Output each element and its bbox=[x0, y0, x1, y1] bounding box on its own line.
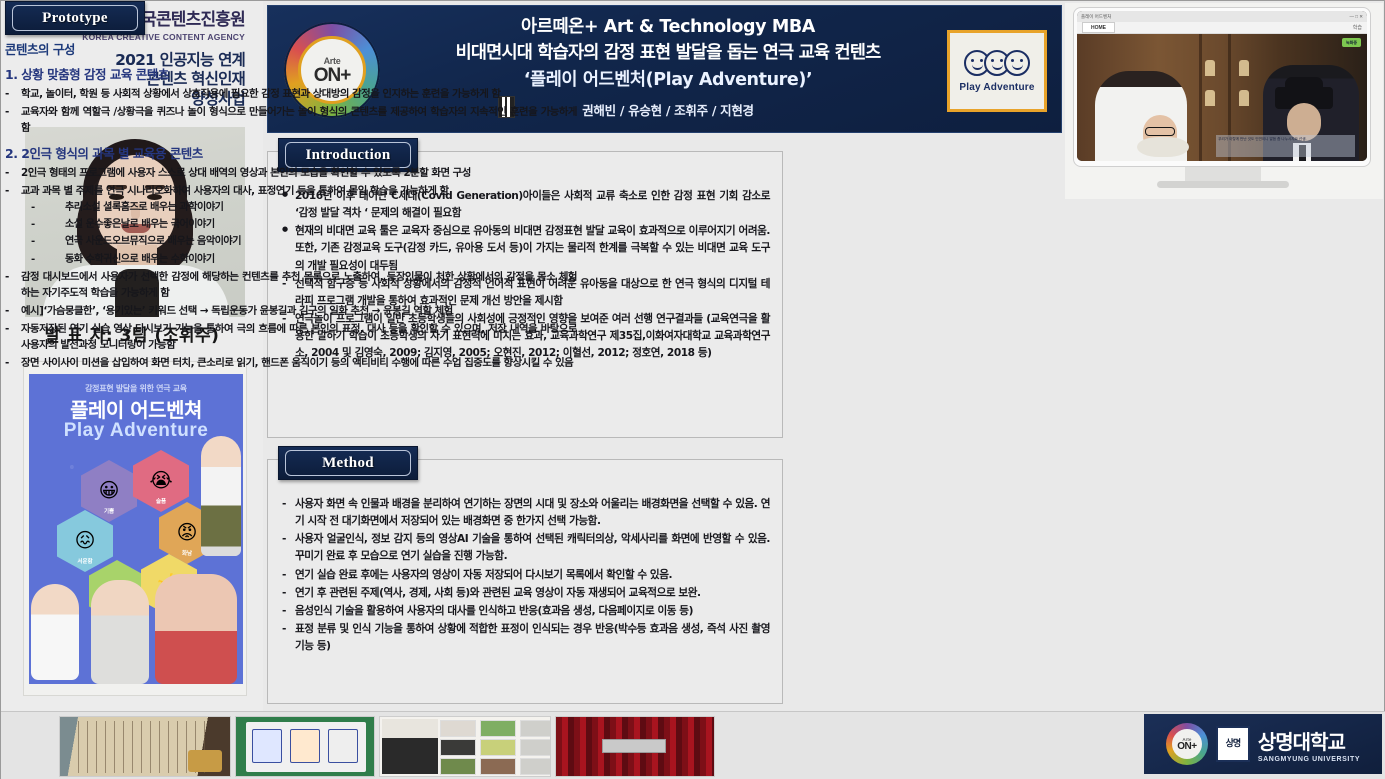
list-item-text: 연기 후 관련된 주제(역사, 경제, 사회 등)와 관련된 교육 영상이 자동… bbox=[295, 585, 770, 602]
list-item-text: 동화 수학귀신으로 배우는 수학이야기 bbox=[65, 252, 577, 268]
method-panel: Method - 사용자 화면 속 인물과 배경을 분리하여 연기하는 장면의 … bbox=[267, 459, 783, 704]
promo-child-1 bbox=[201, 436, 241, 556]
list-item-text: 추리소설 셜록홈즈로 배우는 과학이야기 bbox=[65, 200, 577, 216]
promo-subtitle: 감정표현 발달을 위한 연극 교육 bbox=[29, 383, 243, 394]
list-item: - 음성인식 기술을 활용하여 사용자의 대사를 인식하고 반응(효과음 생성,… bbox=[282, 603, 770, 620]
emotion-icon-upset: 😖 bbox=[75, 531, 96, 551]
emotion-label-sad: 슬픔 bbox=[133, 497, 189, 505]
method-list: - 사용자 화면 속 인물과 배경을 분리하여 연기하는 장면의 시대 및 장소… bbox=[282, 496, 770, 656]
bullet-icon: - bbox=[31, 200, 65, 216]
bullet-icon: - bbox=[5, 355, 21, 372]
list-item-text: 표정 분류 및 인식 기능을 통하여 상황에 적합한 표정이 인식되는 경우 반… bbox=[295, 621, 770, 655]
tab-home[interactable]: HOME bbox=[1082, 22, 1115, 33]
actor1-hat bbox=[1137, 137, 1189, 157]
glasses-icon bbox=[1145, 127, 1175, 136]
bullet-icon: - bbox=[5, 86, 21, 103]
emotion-icon-sad: 😭 bbox=[149, 471, 172, 491]
sangmyung-emblem-icon: 상명 bbox=[1216, 726, 1250, 762]
bullet-icon: - bbox=[5, 321, 21, 354]
arte-on-footer-icon: Arte ON+ bbox=[1166, 723, 1208, 765]
university-name-kr: 상명대학교 bbox=[1258, 726, 1360, 755]
play-adventure-faces-icon bbox=[967, 50, 1027, 76]
list-item: - 감정 대시보드에서 사용자가 선택한 감정에 해당하는 컨텐츠를 추천 목록… bbox=[5, 269, 577, 302]
emotion-icon-joy: 😀 bbox=[99, 481, 120, 501]
emotion-icon-angry: 😡 bbox=[177, 523, 198, 543]
sangmyung-names: 상명대학교 SANGMYUNG UNIVERSITY bbox=[1258, 726, 1360, 763]
list-item-text: 학교, 놀이터, 학원 등 사회적 상황에서 상호작용에 필요한 감정 표현과 … bbox=[21, 86, 577, 103]
list-item: - 소설 운수좋은날로 배우는 국어이야기 bbox=[5, 217, 577, 233]
window-controls-icon[interactable]: — □ ✕ bbox=[1350, 14, 1364, 20]
bullet-icon: - bbox=[282, 585, 295, 602]
prototype-monitor-mockup: 플레이 어드벤처 — □ ✕ HOME 학습 bbox=[1065, 3, 1383, 199]
list-item: - 연기 후 관련된 주제(역사, 경제, 사회 등)와 관련된 교육 영상이 … bbox=[282, 585, 770, 602]
list-item-text: 2인극 형태의 프로그램에 사용자 스스로 상대 배역의 영상과 본인의 모습을… bbox=[21, 165, 577, 182]
list-item-text: 연극 사운드오브뮤직으로 배우는 음악이야기 bbox=[65, 234, 577, 250]
list-item-text: 교육자와 함께 역할극 /상황극을 퀴즈나 놀이 형식으로 만들어가는 놀이 형… bbox=[21, 104, 577, 137]
promo-child-2 bbox=[31, 584, 79, 680]
emotion-label-upset: 서운함 bbox=[57, 557, 113, 565]
arte-on-footer-inner: Arte ON+ bbox=[1172, 729, 1202, 759]
promo-poster-art: 감정표현 발달을 위한 연극 교육 플레이 어드벤쳐 Play Adventur… bbox=[29, 374, 243, 684]
section-tag-method-label: Method bbox=[285, 450, 411, 476]
emotion-hex-sad: 😭 슬픔 bbox=[133, 450, 189, 512]
thumbnail-content-grid[interactable] bbox=[379, 716, 551, 777]
prototype-section-number: 2. 2인극 형식의 과목 별 교육용 콘텐츠 bbox=[5, 143, 577, 162]
browser-titlebar: 플레이 어드벤처 — □ ✕ bbox=[1077, 11, 1367, 22]
bullet-icon: - bbox=[31, 217, 65, 233]
list-item-text: 사용자 얼굴인식, 정보 감지 등의 영상AI 기술을 통하여 선택된 캐릭터의… bbox=[295, 531, 770, 565]
tab-learning-label[interactable]: 학습 bbox=[1353, 24, 1362, 31]
video-actor-hanbok bbox=[1095, 71, 1187, 161]
university-name-en: SANGMYUNG UNIVERSITY bbox=[1258, 756, 1360, 763]
list-item: - 사용자 얼굴인식, 정보 감지 등의 영상AI 기술을 통하여 선택된 캐릭… bbox=[282, 531, 770, 565]
list-item-text: 장면 사이사이 미션을 삽입하여 화면 터치, 큰소리로 읽기, 핸드폰 움직이… bbox=[21, 355, 577, 372]
promo-child-4 bbox=[155, 574, 237, 684]
recording-badge: 녹화중 bbox=[1342, 38, 1361, 47]
prototype-content: 콘텐츠의 구성 1. 상황 맞춤형 감정 교육 콘텐츠 - 학교, 놀이터, 학… bbox=[5, 37, 577, 373]
bullet-icon: - bbox=[5, 269, 21, 302]
bullet-icon: - bbox=[282, 567, 295, 584]
list-item-text: 교과 과목 별 주제를 연극 시나리오화하여 사용자의 대사, 표정연기 등을 … bbox=[21, 183, 577, 200]
smiley-face-icon-3 bbox=[1004, 50, 1030, 76]
bottom-thumbnail-strip: Arte ON+ 상명 상명대학교 SANGMYUNG UNIVERSITY bbox=[1, 711, 1385, 779]
bullet-icon: - bbox=[31, 252, 65, 268]
list-item-text: 음성인식 기술을 활용하여 사용자의 대사를 인식하고 반응(효과음 생성, 다… bbox=[295, 603, 770, 620]
list-item: - 교과 과목 별 주제를 연극 시나리오화하여 사용자의 대사, 표정연기 등… bbox=[5, 183, 577, 200]
list-item-text: 연기 실습 완료 후에는 사용자의 영상이 자동 저장되어 다시보기 목록에서 … bbox=[295, 567, 770, 584]
list-item: - 연극 사운드오브뮤직으로 배우는 음악이야기 bbox=[5, 234, 577, 250]
list-item: - 2인극 형태의 프로그램에 사용자 스스로 상대 배역의 영상과 본인의 모… bbox=[5, 165, 577, 182]
thumbnail-stage-curtain[interactable] bbox=[555, 716, 715, 777]
list-item: - 연기 실습 완료 후에는 사용자의 영상이 자동 저장되어 다시보기 목록에… bbox=[282, 567, 770, 584]
list-item-text: 예시]‘가슴뭉클한’, ‘용기있는’ 키워드 선택 → 독립운동가 윤봉길과 김… bbox=[21, 303, 577, 320]
thumbnail-scroll-scene[interactable] bbox=[59, 716, 231, 777]
bullet-icon: - bbox=[31, 234, 65, 250]
prototype-heading: 콘텐츠의 구성 bbox=[5, 39, 577, 58]
bullet-icon: - bbox=[282, 621, 295, 655]
list-item-text: 자동저장된 연기 실습 영상 다시보기 기능을 통하여 극의 흐름에 따른 본인… bbox=[21, 321, 577, 354]
bullet-icon: - bbox=[5, 165, 21, 182]
promo-child-3 bbox=[91, 580, 149, 684]
bullet-icon: - bbox=[282, 531, 295, 565]
bullet-icon: - bbox=[282, 603, 295, 620]
list-item: - 동화 수학귀신으로 배우는 수학이야기 bbox=[5, 252, 577, 268]
sangmyung-university-logo: Arte ON+ 상명 상명대학교 SANGMYUNG UNIVERSITY bbox=[1144, 714, 1382, 774]
list-item-text: 사용자 화면 속 인물과 배경을 분리하여 연기하는 장면의 시대 및 장소와 … bbox=[295, 496, 770, 530]
section-tag-method: Method bbox=[278, 446, 418, 480]
section-tag-prototype-label: Prototype bbox=[12, 5, 138, 31]
prototype-section-number: 1. 상황 맞춤형 감정 교육 콘텐츠 bbox=[5, 64, 577, 83]
play-adventure-label: Play Adventure bbox=[959, 82, 1034, 93]
thumbnail-character-select[interactable] bbox=[235, 716, 375, 777]
list-item: - 학교, 놀이터, 학원 등 사회적 상황에서 상호작용에 필요한 감정 표현… bbox=[5, 86, 577, 103]
arte-footer-bottom-text: ON+ bbox=[1177, 742, 1196, 752]
promo-poster-image: 감정표현 발달을 위한 연극 교육 플레이 어드벤쳐 Play Adventur… bbox=[23, 361, 247, 696]
list-item: - 교육자와 함께 역할극 /상황극을 퀴즈나 놀이 형식으로 만들어가는 놀이… bbox=[5, 104, 577, 137]
list-item-text: 소설 운수좋은날로 배우는 국어이야기 bbox=[65, 217, 577, 233]
play-adventure-logo: Play Adventure bbox=[947, 30, 1047, 112]
list-item-text: 감정 대시보드에서 사용자가 선택한 감정에 해당하는 컨텐츠를 추천 목록으로… bbox=[21, 269, 577, 302]
bullet-icon: - bbox=[5, 303, 21, 320]
list-item: - 장면 사이사이 미션을 삽입하여 화면 터치, 큰소리로 읽기, 핸드폰 움… bbox=[5, 355, 577, 372]
list-item: - 표정 분류 및 인식 기능을 통하여 상황에 적합한 표정이 인식되는 경우… bbox=[282, 621, 770, 655]
video-subtitle: 우리가 이렇게 만난 것도 인연이니 말씀 좀 나누시지요 선생. bbox=[1216, 135, 1355, 157]
bullet-icon: - bbox=[282, 496, 295, 530]
bullet-icon: - bbox=[5, 183, 21, 200]
browser-tabbar: HOME 학습 bbox=[1077, 22, 1367, 34]
video-stage: 녹화중 우리가 이렇게 만난 것도 인연이니 말씀 좀 나누시지요 선생. bbox=[1077, 34, 1367, 161]
monitor-screen: 플레이 어드벤처 — □ ✕ HOME 학습 bbox=[1077, 11, 1367, 161]
list-item: - 예시]‘가슴뭉클한’, ‘용기있는’ 키워드 선택 → 독립운동가 윤봉길과… bbox=[5, 303, 577, 320]
list-item: - 추리소설 셜록홈즈로 배우는 과학이야기 bbox=[5, 200, 577, 216]
list-item: - 자동저장된 연기 실습 영상 다시보기 기능을 통하여 극의 흐름에 따른 … bbox=[5, 321, 577, 354]
poster-canvas: 한국콘텐츠진흥원 KOREA CREATIVE CONTENT AGENCY 2… bbox=[0, 0, 1385, 779]
browser-title: 플레이 어드벤처 bbox=[1081, 14, 1111, 20]
monitor-base bbox=[1157, 181, 1289, 188]
promo-title-kr: 플레이 어드벤쳐 bbox=[29, 394, 243, 423]
list-item: - 사용자 화면 속 인물과 배경을 분리하여 연기하는 장면의 시대 및 장소… bbox=[282, 496, 770, 530]
bullet-icon: - bbox=[5, 104, 21, 137]
section-tag-prototype: Prototype bbox=[5, 1, 145, 35]
